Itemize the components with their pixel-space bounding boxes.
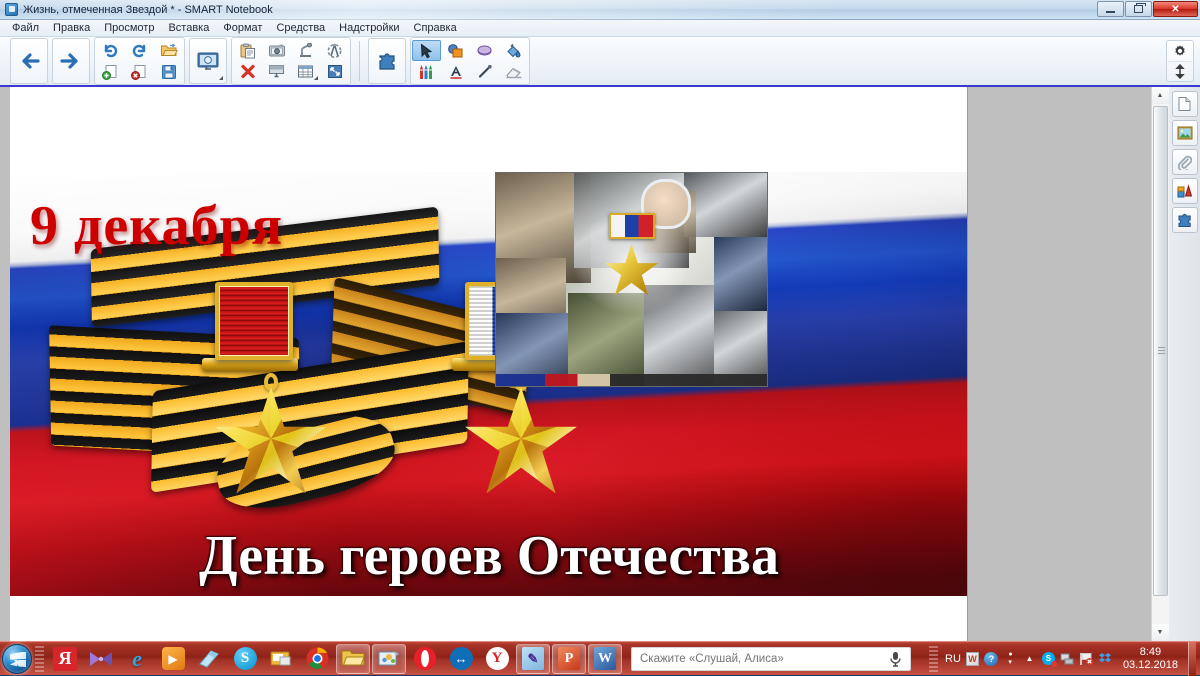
page-margin-top [10,87,967,172]
slide-title-text[interactable]: День героев Отечества [10,524,968,588]
word-icon: W [594,647,616,670]
select-tool[interactable] [412,40,441,61]
tray-grip[interactable] [929,646,938,672]
page-margin-bottom [10,596,967,641]
taskbar-opera[interactable] [408,644,442,674]
collage-tricolor-ribbon [609,213,655,239]
taskbar-internet-explorer[interactable]: e [120,644,154,674]
gold-star-icon [215,387,327,499]
media-player-icon: ▶ [162,647,185,670]
menu-view[interactable]: Просмотр [97,20,161,36]
undo-button[interactable] [96,40,125,61]
restore-button[interactable] [1125,1,1152,17]
tray-more-icon[interactable]: ●▾ [1003,651,1018,666]
tray-office-icon[interactable]: W [965,651,980,666]
properties-tab[interactable] [1172,178,1198,204]
powerpoint-icon: P [558,647,580,670]
taskbar-presentation[interactable] [264,644,298,674]
notebook-page[interactable]: 9 декабря День героев Отечества [10,87,968,641]
taskbar-smart-notebook[interactable] [372,644,406,674]
canvas-vertical-scrollbar[interactable]: ▲ ▼ [1151,87,1168,641]
main-toolbar [0,37,1200,87]
menu-help[interactable]: Справка [407,20,464,36]
taskbar-word[interactable]: W [588,644,622,674]
move-toolbar-button[interactable] [1167,61,1193,81]
taskbar-mail[interactable] [84,644,118,674]
next-page-button[interactable] [54,40,88,82]
folder-icon [341,649,365,668]
close-button[interactable]: ✕ [1153,1,1198,17]
menu-addons[interactable]: Надстройки [332,20,406,36]
smart-notebook-icon [5,3,18,16]
delete-page-button[interactable] [125,61,154,82]
save-button[interactable] [154,61,183,82]
add-ons-button[interactable] [370,40,404,82]
microphone-icon[interactable] [889,651,902,667]
show-desktop-button[interactable] [1188,642,1196,676]
slide-artwork[interactable]: 9 декабря День героев Отечества [10,172,968,596]
sidebar-tab-rail [1168,87,1200,641]
start-button[interactable] [2,644,32,674]
page-sorter-tab[interactable] [1172,91,1198,117]
toolbar-group-tools [410,37,530,85]
mail-butterfly-icon [89,649,113,669]
eraser-tool[interactable] [499,61,528,82]
toolbar-separator [359,41,360,81]
taskbar-notes[interactable] [192,644,226,674]
taskbar-grip[interactable] [35,646,44,672]
canvas-area[interactable]: 9 декабря День героев Отечества [0,87,1151,641]
alisa-search-input[interactable] [640,653,883,665]
clock-date: 03.12.2018 [1123,659,1178,672]
menu-edit[interactable]: Правка [46,20,97,36]
toolbar-group-screen [189,38,227,84]
full-screen-button[interactable] [320,61,349,82]
taskbar-apps: Я e ▶ S [47,644,623,674]
addons-tab[interactable] [1172,207,1198,233]
teamviewer-icon: ↔ [450,647,473,670]
yandex-y-icon: Y [486,647,509,670]
toolbar-group-addons [368,38,406,84]
taskbar-skype[interactable]: S [228,644,262,674]
menu-tools[interactable]: Средства [269,20,332,36]
taskbar-chrome[interactable] [300,644,334,674]
yandex-icon: Я [53,647,77,671]
scroll-down-button[interactable]: ▼ [1152,624,1169,641]
redo-button[interactable] [125,40,154,61]
toolbar-group-insert [231,37,351,85]
taskbar-powerpoint[interactable]: P [552,644,586,674]
heroes-photo-collage[interactable] [495,172,768,387]
taskbar-media-player[interactable]: ▶ [156,644,190,674]
windows-taskbar: Я e ▶ S [0,641,1200,675]
tray-help-icon[interactable]: ? [984,651,999,666]
menu-format[interactable]: Формат [216,20,269,36]
smart-notebook-icon [377,649,401,669]
scroll-thumb[interactable] [1153,106,1168,596]
scroll-grip-icon [1158,347,1165,355]
minimize-button[interactable] [1097,1,1124,17]
tray-flag-icon[interactable] [1079,651,1094,666]
clear-page-button[interactable] [233,61,262,82]
internet-explorer-icon: e [132,646,142,672]
previous-page-button[interactable] [12,40,46,82]
smart-notebook-window: Жизнь, отмеченная Звездой * - SMART Note… [0,0,1200,675]
taskbar-explorer[interactable] [336,644,370,674]
tray-show-hidden-icon[interactable]: ▲ [1022,651,1037,666]
window-title: Жизнь, отмеченная Звездой * - SMART Note… [23,4,273,16]
menu-insert[interactable]: Вставка [161,20,216,36]
scroll-track[interactable] [1152,104,1169,624]
alisa-voice-search[interactable] [631,647,911,671]
toolbar-group-navigation [8,39,92,83]
chrome-icon [306,647,329,670]
system-tray: RU W ? ●▾ ▲ S 8:49 03.12.2018 [926,642,1200,676]
taskbar-onenote[interactable]: ✎ [516,644,550,674]
pens-tool[interactable] [412,61,441,82]
scroll-up-button[interactable]: ▲ [1152,87,1169,104]
gold-star-icon [465,387,577,499]
clock-time: 8:49 [1123,646,1178,659]
workspace: 9 декабря День героев Отечества [0,87,1200,641]
screen-shade-button[interactable] [191,40,225,82]
measurement-tools-button[interactable] [320,40,349,61]
notes-icon [197,648,221,669]
skype-icon: S [234,647,257,670]
taskbar-clock[interactable]: 8:49 03.12.2018 [1117,646,1184,672]
menu-file[interactable]: Файл [5,20,46,36]
shapes-tool[interactable] [441,40,470,61]
onenote-icon: ✎ [522,647,544,670]
magic-pen-tool[interactable] [470,40,499,61]
paste-button[interactable] [233,40,262,61]
title-bar: Жизнь, отмеченная Звездой * - SMART Note… [0,0,1200,20]
document-camera-button[interactable] [291,40,320,61]
slide-date-text[interactable]: 9 декабря [30,194,283,258]
screen-shade-button-2[interactable] [262,61,291,82]
collage-bottom-strip [496,374,767,386]
open-file-button[interactable] [154,40,183,61]
taskbar-yandex-browser[interactable]: Я [48,644,82,674]
language-indicator[interactable]: RU [945,653,961,665]
hero-of-soviet-union-medal[interactable] [215,282,327,499]
window-controls: ✕ [1097,1,1198,17]
insert-table-button[interactable] [291,61,320,82]
collage-portrait [714,235,768,311]
tray-skype-icon[interactable]: S [1041,651,1056,666]
screen-capture-button[interactable] [262,40,291,61]
taskbar-teamviewer[interactable]: ↔ [444,644,478,674]
menu-bar: Файл Правка Просмотр Вставка Формат Сред… [0,20,1200,37]
paint-bucket-tool[interactable] [499,40,528,61]
gallery-tab[interactable] [1172,120,1198,146]
tray-network-icon[interactable] [1060,651,1075,666]
toolbar-right-controls [1166,40,1194,82]
tray-dropbox-icon[interactable] [1098,651,1113,666]
line-tool[interactable] [470,61,499,82]
medal-ribbon-red [215,282,293,360]
taskbar-yandex[interactable]: Y [480,644,514,674]
text-tool[interactable] [441,61,470,82]
attachments-tab[interactable] [1172,149,1198,175]
toolbar-group-file [94,37,185,85]
add-page-button[interactable] [96,61,125,82]
presentation-icon [269,649,293,669]
opera-icon [414,647,436,670]
toolbar-settings-button[interactable] [1167,41,1193,61]
